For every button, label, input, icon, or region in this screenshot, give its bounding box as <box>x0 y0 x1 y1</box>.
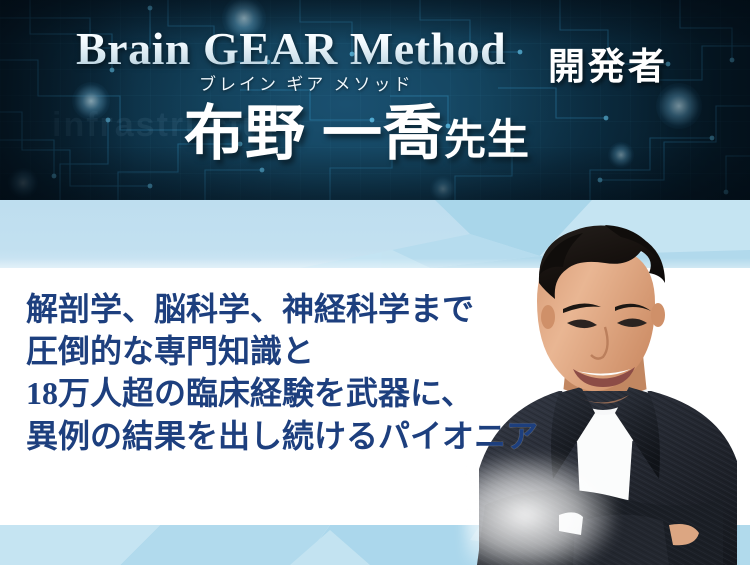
person-name: 布野 一喬先生 <box>184 104 530 164</box>
developer-badge: 開発者 <box>548 36 668 90</box>
person-name-main: 布野 一喬 <box>184 101 444 167</box>
brand-title: Brain GEAR Method <box>76 26 506 72</box>
body-line-4: 異例の結果を出し続けるパイオニア <box>26 415 538 457</box>
body-line-3: 18万人超の臨床経験を武器に、 <box>26 372 538 414</box>
header-band: infrastructure Brain GEAR Method ブレイン ギア… <box>0 0 750 200</box>
body-line-2: 圧倒的な専門知識と <box>26 330 538 372</box>
body-copy: 解剖学、脳科学、神経科学まで 圧倒的な専門知識と 18万人超の臨床経験を武器に、… <box>26 288 538 457</box>
brand-subtitle: ブレイン ギア メソッド <box>199 70 414 95</box>
promo-banner: infrastructure Brain GEAR Method ブレイン ギア… <box>0 0 750 565</box>
person-name-honorific: 先生 <box>444 118 530 164</box>
body-line-1: 解剖学、脳科学、神経科学まで <box>26 288 538 330</box>
